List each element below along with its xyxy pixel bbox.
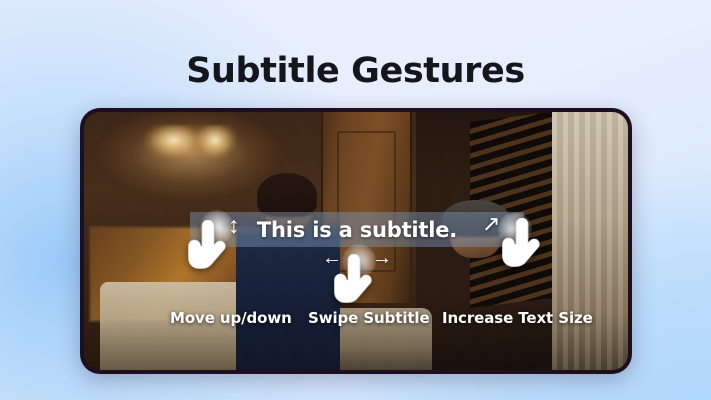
hand-cursor-icon-swipe bbox=[334, 254, 380, 312]
phone-frame: This is a subtitle. ↕ ← → ↗ bbox=[80, 108, 632, 374]
scene-right-wall bbox=[552, 112, 628, 370]
page-title: Subtitle Gestures bbox=[0, 49, 711, 93]
video-player-screen[interactable]: This is a subtitle. ↕ ← → ↗ bbox=[84, 112, 628, 370]
caption-swipe-subtitle: Swipe Subtitle bbox=[308, 309, 430, 327]
scene-wall-lamp-secondary bbox=[193, 125, 237, 159]
scene-person-left bbox=[236, 169, 339, 370]
hand-cursor-icon-resize bbox=[502, 218, 548, 276]
caption-increase-text-size: Increase Text Size bbox=[442, 309, 593, 327]
page-root: Subtitle Gestures This is a subtitle. bbox=[0, 0, 711, 400]
subtitle-bar[interactable]: This is a subtitle. bbox=[190, 212, 524, 247]
arrow-diagonal-resize-icon: ↗ bbox=[482, 213, 500, 235]
subtitle-text: This is a subtitle. bbox=[257, 218, 457, 242]
hand-cursor-icon-move bbox=[188, 220, 234, 278]
caption-move-up-down: Move up/down bbox=[170, 309, 292, 327]
